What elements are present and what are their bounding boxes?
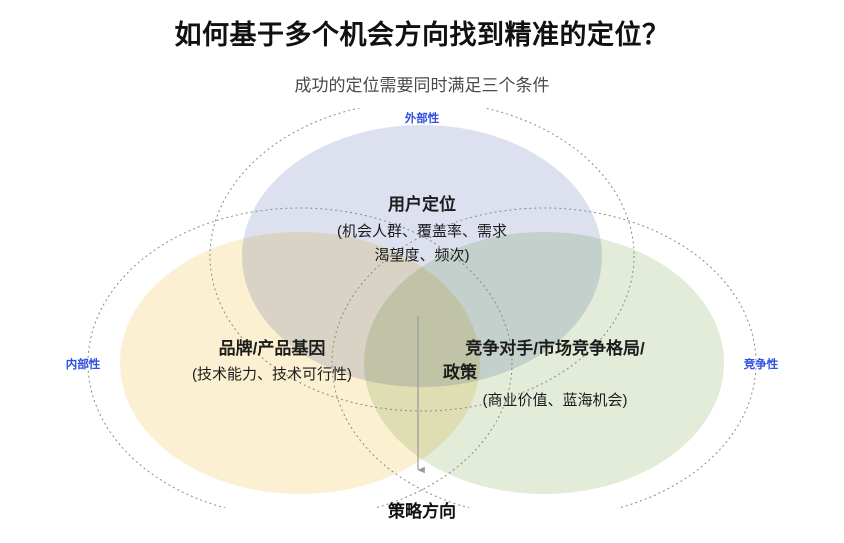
venn-set-top-detail-2: 渴望度、频次) [375,247,470,264]
venn-set-top-heading: 用户定位 [388,194,456,214]
ring-label-top: 外部性 [404,111,440,125]
slide-canvas: 如何基于多个机会方向找到精准的定位？ 成功的定位需要同时满足三个条件 [0,0,844,543]
venn-set-right-detail-1: (商业价值、蓝海机会) [483,392,628,409]
venn-set-left-heading: 品牌/产品基因 [219,338,326,358]
ring-label-left: 内部性 [66,357,101,371]
venn-diagram: 外部性 内部性 竞争性 用户定位 (机会人群、覆盖率、需求 渴望度、频次) 品牌… [0,108,844,508]
ring-label-right: 竞争性 [744,357,779,371]
venn-set-top-detail-1: (机会人群、覆盖率、需求 [337,223,507,240]
venn-set-left-detail-1: (技术能力、技术可行性) [192,366,352,383]
page-subtitle: 成功的定位需要同时满足三个条件 [0,74,844,98]
venn-set-right-heading-2: 政策 [443,362,478,382]
page-title: 如何基于多个机会方向找到精准的定位？ [0,18,844,53]
venn-set-right-heading-1: 竞争对手/市场竞争格局/ [465,338,645,358]
outcome-label: 策略方向 [0,497,844,522]
venn-fills [120,125,724,494]
